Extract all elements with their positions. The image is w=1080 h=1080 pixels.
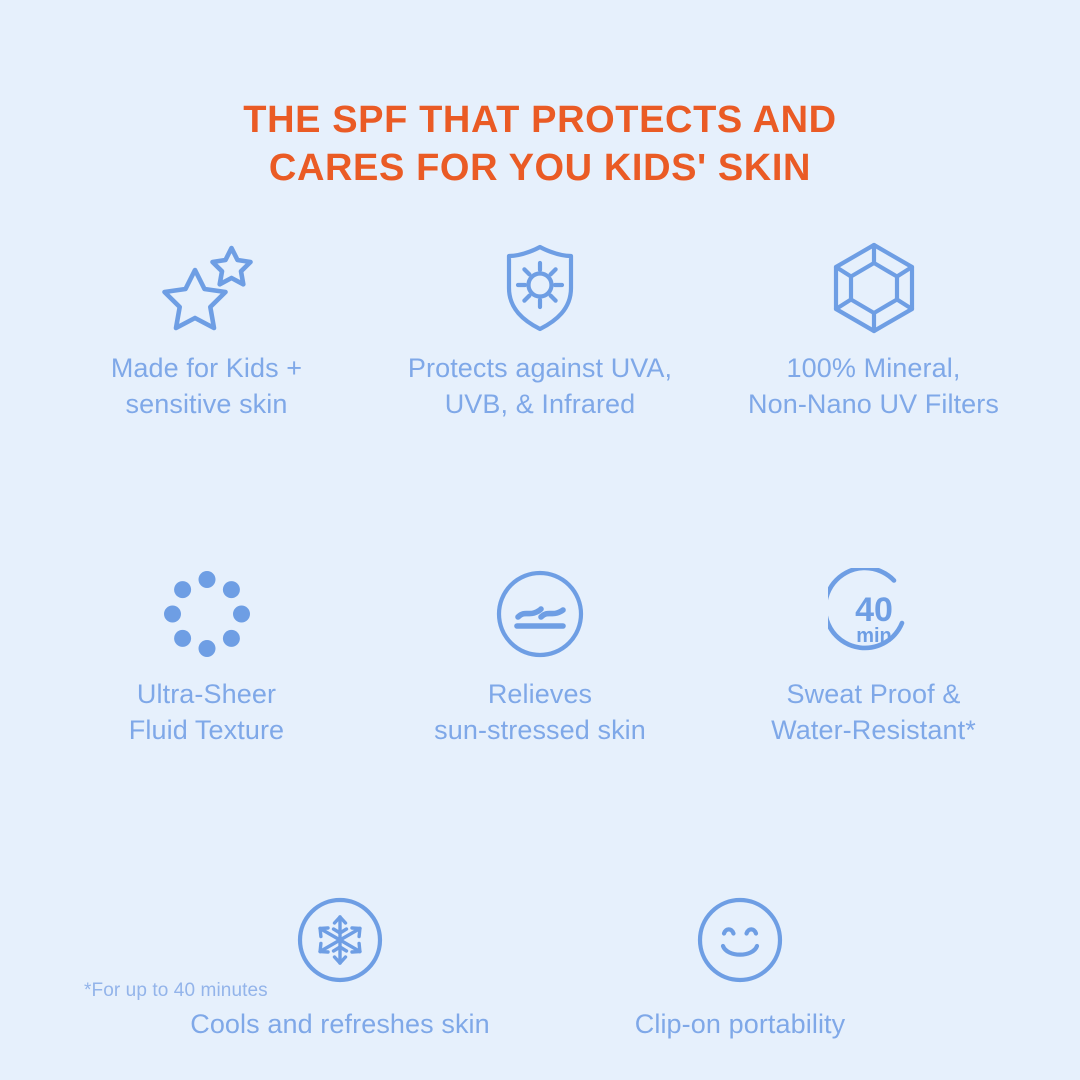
caption-line-2: Fluid Texture <box>129 712 284 748</box>
feature-row-3: Cools and refreshes skin <box>40 892 1040 1042</box>
caption-line-2: sun-stressed skin <box>434 712 646 748</box>
caption-line-2: Water-Resistant* <box>771 712 976 748</box>
footnote: *For up to 40 minutes <box>84 978 268 1004</box>
feature-item-ultra-sheer: Ultra-Sheer Fluid Texture <box>40 566 373 748</box>
feature-item-sweat-proof: 40 min Sweat Proof & Water-Resistant* <box>707 566 1040 748</box>
promo-poster: THE SPF THAT PROTECTS AND CARES FOR YOU … <box>0 0 1080 1080</box>
mineral-gem-icon <box>829 240 919 336</box>
feature-caption: Clip-on portability <box>635 1006 846 1042</box>
feature-grid: Made for Kids + sensitive skin <box>40 240 1040 1042</box>
caption-line-1: Cools and refreshes skin <box>190 1006 490 1042</box>
timer-value: 40 <box>855 591 893 629</box>
caption-line-1: Relieves <box>434 676 646 712</box>
feature-caption: Cools and refreshes skin <box>190 1006 490 1042</box>
dot-circle-icon <box>164 566 250 662</box>
feature-item-made-for-kids: Made for Kids + sensitive skin <box>40 240 373 422</box>
page-title: THE SPF THAT PROTECTS AND CARES FOR YOU … <box>0 96 1080 192</box>
shield-sun-icon <box>504 240 576 336</box>
feature-item-clip-on: Clip-on portability <box>540 892 940 1042</box>
feature-caption: 100% Mineral, Non-Nano UV Filters <box>748 350 999 422</box>
caption-line-2: Non-Nano UV Filters <box>748 386 999 422</box>
headline-line-1: THE SPF THAT PROTECTS AND <box>0 96 1080 144</box>
feature-caption: Ultra-Sheer Fluid Texture <box>129 676 284 748</box>
feature-item-uv-protection: Protects against UVA, UVB, & Infrared <box>374 240 707 422</box>
caption-line-1: Clip-on portability <box>635 1006 846 1042</box>
smiley-circle-icon <box>697 892 783 988</box>
feature-caption: Made for Kids + sensitive skin <box>111 350 302 422</box>
feature-caption: Protects against UVA, UVB, & Infrared <box>408 350 672 422</box>
feature-item-mineral-filters: 100% Mineral, Non-Nano UV Filters <box>707 240 1040 422</box>
caption-line-1: Sweat Proof & <box>771 676 976 712</box>
feature-caption: Sweat Proof & Water-Resistant* <box>771 676 976 748</box>
feature-item-cooling: Cools and refreshes skin <box>140 892 540 1042</box>
caption-line-1: Ultra-Sheer <box>129 676 284 712</box>
wave-circle-icon <box>496 566 584 662</box>
feature-item-relieves-skin: Relieves sun-stressed skin <box>374 566 707 748</box>
feature-row-1: Made for Kids + sensitive skin <box>40 240 1040 422</box>
timer-unit: min <box>856 625 892 647</box>
caption-line-1: Protects against UVA, <box>408 350 672 386</box>
snowflake-circle-icon <box>297 892 383 988</box>
headline-line-2: CARES FOR YOU KIDS' SKIN <box>0 144 1080 192</box>
feature-caption: Relieves sun-stressed skin <box>434 676 646 748</box>
caption-line-1: 100% Mineral, <box>748 350 999 386</box>
caption-line-2: sensitive skin <box>111 386 302 422</box>
caption-line-2: UVB, & Infrared <box>408 386 672 422</box>
two-stars-icon <box>159 240 255 336</box>
forty-minutes-icon: 40 min <box>828 566 920 662</box>
feature-row-2: Ultra-Sheer Fluid Texture <box>40 566 1040 748</box>
caption-line-1: Made for Kids + <box>111 350 302 386</box>
